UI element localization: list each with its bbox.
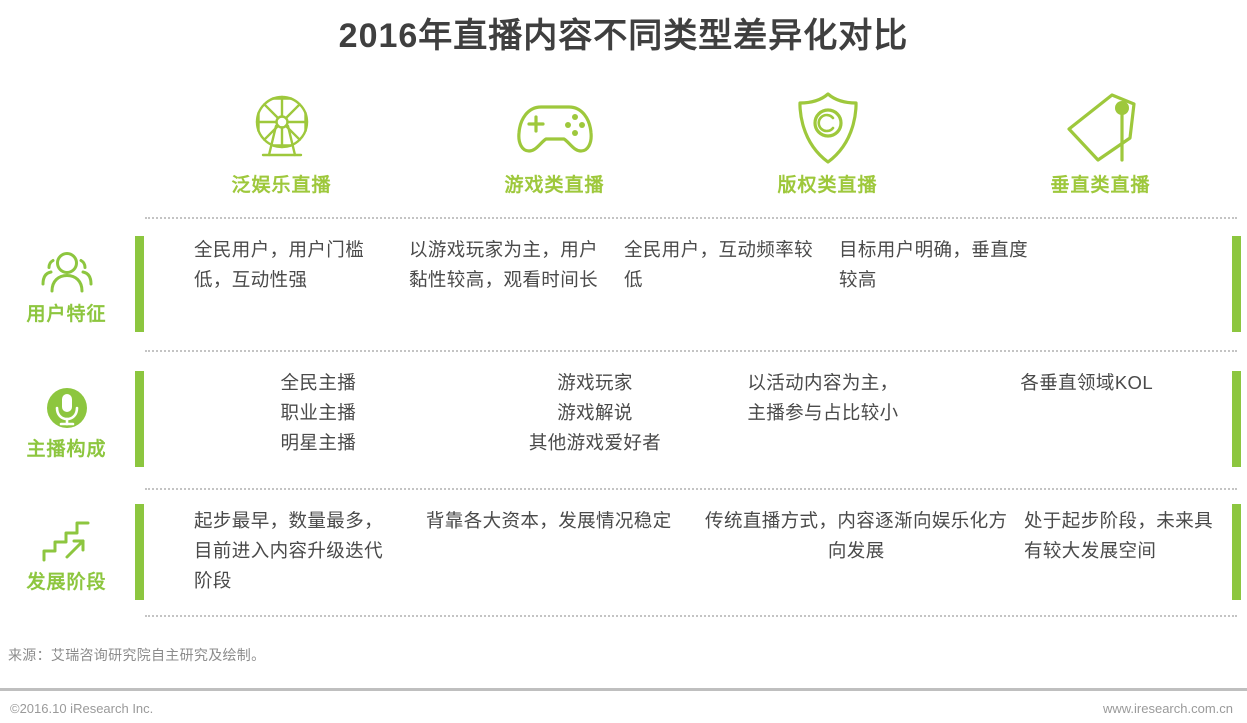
growth-stairs-icon <box>39 515 95 567</box>
table-cell: 以游戏玩家为主，用户黏性较高，观看时间长 <box>395 217 610 350</box>
row-cells: 全民主播 职业主播 明星主播 游戏玩家 游戏解说 其他游戏爱好者 以活动内容为主… <box>145 350 1225 488</box>
footer-copyright: ©2016.10 iResearch Inc. <box>10 701 153 716</box>
row-accent-bar-left <box>133 488 145 615</box>
page-title: 2016年直播内容不同类型差异化对比 <box>0 14 1247 58</box>
table-cell: 各垂直领域KOL <box>948 350 1225 488</box>
row-accent-bar-right <box>1225 488 1247 615</box>
row-label-text: 发展阶段 <box>26 571 106 595</box>
footer-website[interactable]: www.iresearch.com.cn <box>1103 701 1233 716</box>
table-cell: 以活动内容为主， 主播参与占比较小 <box>733 350 948 488</box>
table-row: 用户特征 全民用户，用户门槛低，互动性强 以游戏玩家为主，用户黏性较高，观看时间… <box>0 217 1247 350</box>
microphone-icon <box>42 382 92 434</box>
table-row: 主播构成 全民主播 职业主播 明星主播 游戏玩家 游戏解说 其他游戏爱好者 以活… <box>0 350 1247 488</box>
column-header-label: 游戏类直播 <box>504 174 604 198</box>
row-cells: 全民用户，用户门槛低，互动性强 以游戏玩家为主，用户黏性较高，观看时间长 全民用… <box>145 217 1225 350</box>
table-cell: 处于起步阶段，未来具有较大发展空间 <box>1010 488 1225 615</box>
table-cell: 起步最早，数量最多，目前进入内容升级迭代阶段 <box>180 488 395 615</box>
table-row: 发展阶段 起步最早，数量最多，目前进入内容升级迭代阶段 背靠各大资本，发展情况稳… <box>0 488 1247 615</box>
row-label-text: 主播构成 <box>26 438 106 462</box>
row-accent-bar-right <box>1225 217 1247 350</box>
row-accent-bar-right <box>1225 350 1247 488</box>
column-header-label: 泛娱乐直播 <box>231 174 331 198</box>
ferris-wheel-icon <box>243 88 321 168</box>
divider-row-3 <box>145 615 1237 617</box>
row-cells: 起步最早，数量最多，目前进入内容升级迭代阶段 背靠各大资本，发展情况稳定 传统直… <box>145 488 1225 615</box>
row-accent-bar-left <box>133 350 145 488</box>
column-header-vertical: 垂直类直播 <box>964 88 1237 217</box>
table-cell: 全民主播 职业主播 明星主播 <box>180 350 457 488</box>
footer-divider <box>0 688 1247 691</box>
footer: ©2016.10 iResearch Inc. www.iresearch.co… <box>0 698 1247 723</box>
table-cell: 全民用户，互动频率较低 <box>610 217 825 350</box>
column-header-label: 版权类直播 <box>777 174 877 198</box>
comparison-matrix: 泛娱乐直播 游戏类直播 <box>0 88 1247 618</box>
column-header-label: 垂直类直播 <box>1050 174 1150 198</box>
table-cell: 目标用户明确，垂直度较高 <box>825 217 1040 350</box>
table-cell: 游戏玩家 游戏解说 其他游戏爱好者 <box>457 350 734 488</box>
row-accent-bar-left <box>133 217 145 350</box>
users-group-icon <box>38 247 96 299</box>
game-controller-icon <box>514 88 596 168</box>
column-header-entertainment: 泛娱乐直播 <box>145 88 418 217</box>
row-label-text: 用户特征 <box>26 303 106 327</box>
row-label-user-traits: 用户特征 <box>0 217 133 350</box>
source-note: 来源：艾瑞咨询研究院自主研究及绘制。 <box>8 645 265 665</box>
table-cell: 传统直播方式，内容逐渐向娱乐化方向发展 <box>703 488 1011 615</box>
table-cell: 背靠各大资本，发展情况稳定 <box>395 488 703 615</box>
row-label-anchor-composition: 主播构成 <box>0 350 133 488</box>
table-cell: 全民用户，用户门槛低，互动性强 <box>180 217 395 350</box>
column-header-row: 泛娱乐直播 游戏类直播 <box>145 88 1237 217</box>
shield-copyright-icon <box>793 88 863 168</box>
price-tag-icon <box>1060 88 1142 168</box>
row-label-development-stage: 发展阶段 <box>0 488 133 615</box>
column-header-copyright: 版权类直播 <box>691 88 964 217</box>
column-header-game: 游戏类直播 <box>418 88 691 217</box>
